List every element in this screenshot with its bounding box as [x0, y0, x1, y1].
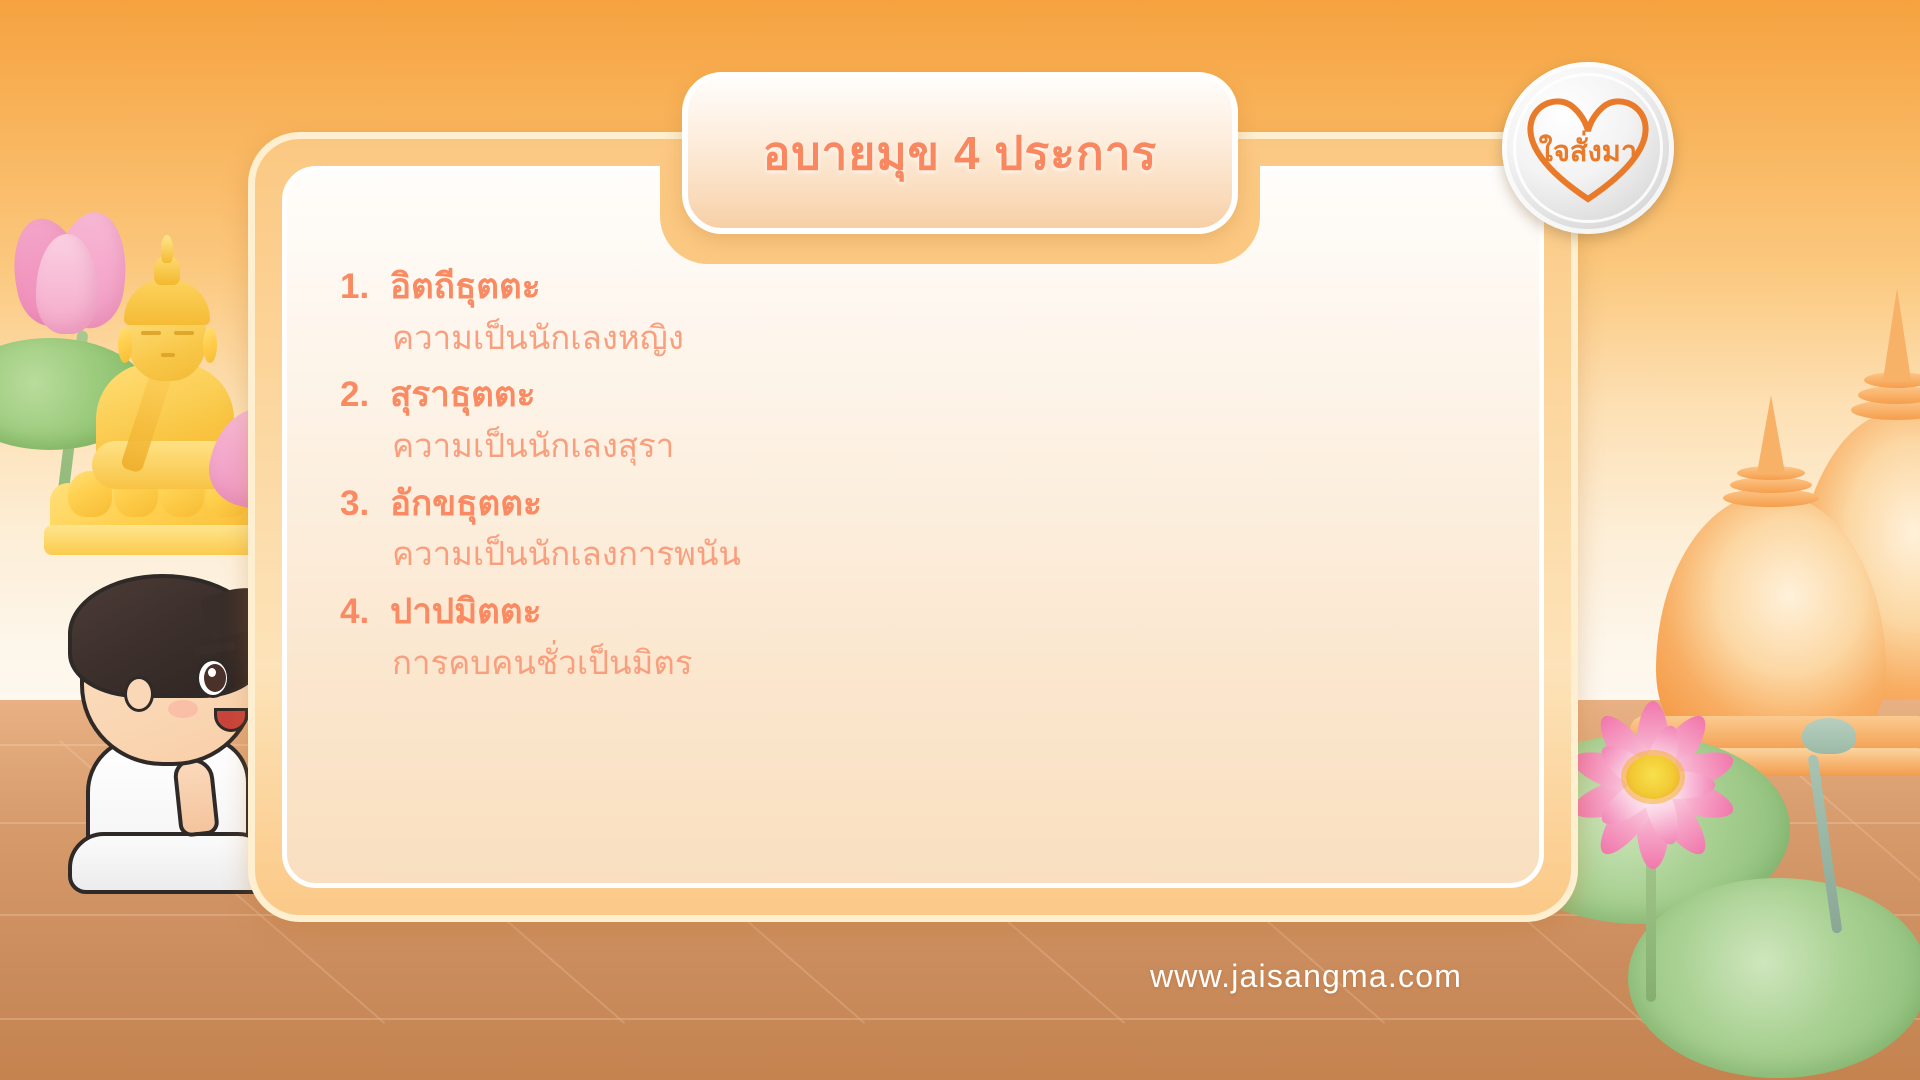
lotus-flower-right [1520, 672, 1920, 1080]
lotus-pad-right-2 [1628, 878, 1920, 1078]
site-url[interactable]: www.jaisangma.com [1150, 958, 1462, 995]
heart-icon [1513, 73, 1663, 223]
lotus-seed-pod [1802, 718, 1856, 754]
list-item-title: อิตถีธุตตะ [390, 262, 541, 313]
list-item-number: 4. [340, 587, 378, 638]
list-item-head: 1. อิตถีธุตตะ [340, 262, 1240, 313]
list-item-head: 2. สุราธุตตะ [340, 370, 1240, 421]
list-item-title: สุราธุตตะ [390, 370, 535, 421]
list-item: 3. อักขธุตตะ ความเป็นนักเลงการพนัน [340, 479, 1240, 579]
list-item-number: 2. [340, 370, 378, 421]
list-item-desc: การคบคนชั่วเป็นมิตร [392, 638, 1240, 688]
lotus-center [1626, 755, 1680, 799]
brand-badge[interactable]: ใจสั่งมา [1502, 62, 1674, 234]
badge-inner: ใจสั่งมา [1513, 73, 1663, 223]
list-item-desc: ความเป็นนักเลงการพนัน [392, 529, 1240, 579]
list-item-desc: ความเป็นนักเลงสุรา [392, 421, 1240, 471]
list-item-head: 3. อักขธุตตะ [340, 479, 1240, 530]
slide-canvas: อบายมุข 4 ประการ 1. อิตถีธุตตะ ความเป็นน… [0, 0, 1920, 1080]
badge-label: ใจสั่งมา [1513, 128, 1663, 174]
lotus-bloom [1558, 694, 1748, 864]
page-title: อบายมุข 4 ประการ [763, 117, 1158, 190]
list-item-title: ปาปมิตตะ [390, 587, 541, 638]
title-plate: อบายมุข 4 ประการ [682, 72, 1238, 234]
list-item: 1. อิตถีธุตตะ ความเป็นนักเลงหญิง [340, 262, 1240, 362]
list-item-number: 3. [340, 479, 378, 530]
list-item-desc: ความเป็นนักเลงหญิง [392, 313, 1240, 363]
abaiyamukh-list: 1. อิตถีธุตตะ ความเป็นนักเลงหญิง 2. สุรา… [340, 262, 1240, 695]
list-item-number: 1. [340, 262, 378, 313]
list-item: 4. ปาปมิตตะ การคบคนชั่วเป็นมิตร [340, 587, 1240, 687]
list-item-title: อักขธุตตะ [390, 479, 542, 530]
list-item: 2. สุราธุตตะ ความเป็นนักเลงสุรา [340, 370, 1240, 470]
list-item-head: 4. ปาปมิตตะ [340, 587, 1240, 638]
